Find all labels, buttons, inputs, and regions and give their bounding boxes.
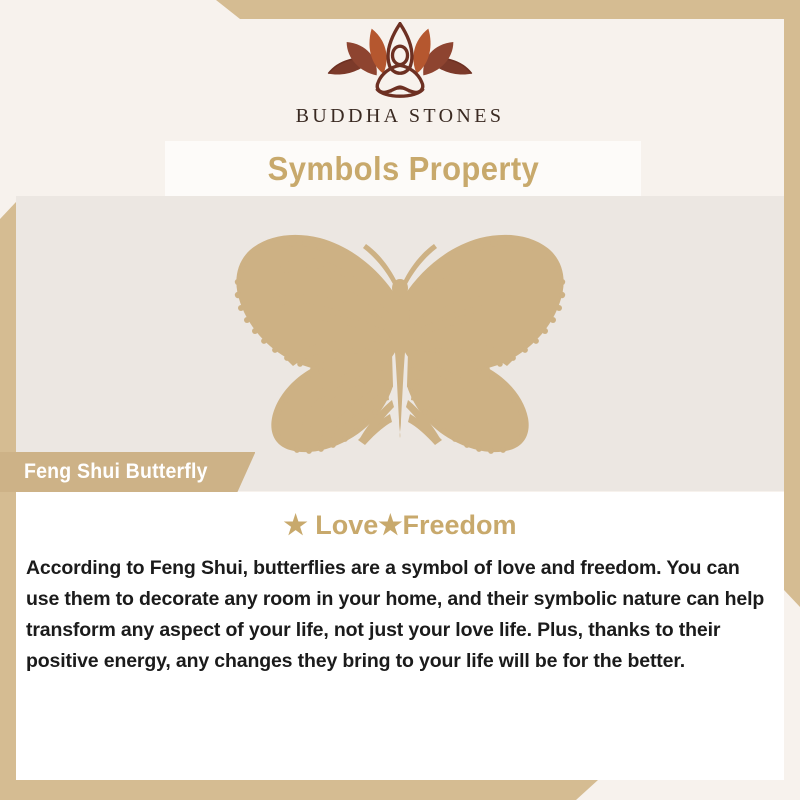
description-subheading: ★ Love★Freedom <box>16 492 784 541</box>
brand-header: BUDDHA STONES <box>0 0 800 140</box>
poster-canvas: BUDDHA STONES Symbols Property <box>0 0 800 800</box>
description-card: ★ Love★Freedom According to Feng Shui, b… <box>16 492 784 780</box>
gold-frame-bottom <box>0 780 598 800</box>
brand-name: BUDDHA STONES <box>0 105 800 128</box>
gold-frame-left <box>0 202 16 800</box>
page-title: Symbols Property <box>267 150 538 188</box>
hero-panel <box>16 196 784 491</box>
brand-logo-block: BUDDHA STONES <box>0 22 800 128</box>
hero-ribbon-label: Feng Shui Butterfly <box>24 460 208 484</box>
hero-ribbon: Feng Shui Butterfly <box>0 452 255 492</box>
butterfly-icon <box>200 224 600 454</box>
title-strip: Symbols Property <box>165 141 641 196</box>
description-paragraph: According to Feng Shui, butterflies are … <box>16 541 784 677</box>
lotus-meditation-icon <box>315 22 485 102</box>
